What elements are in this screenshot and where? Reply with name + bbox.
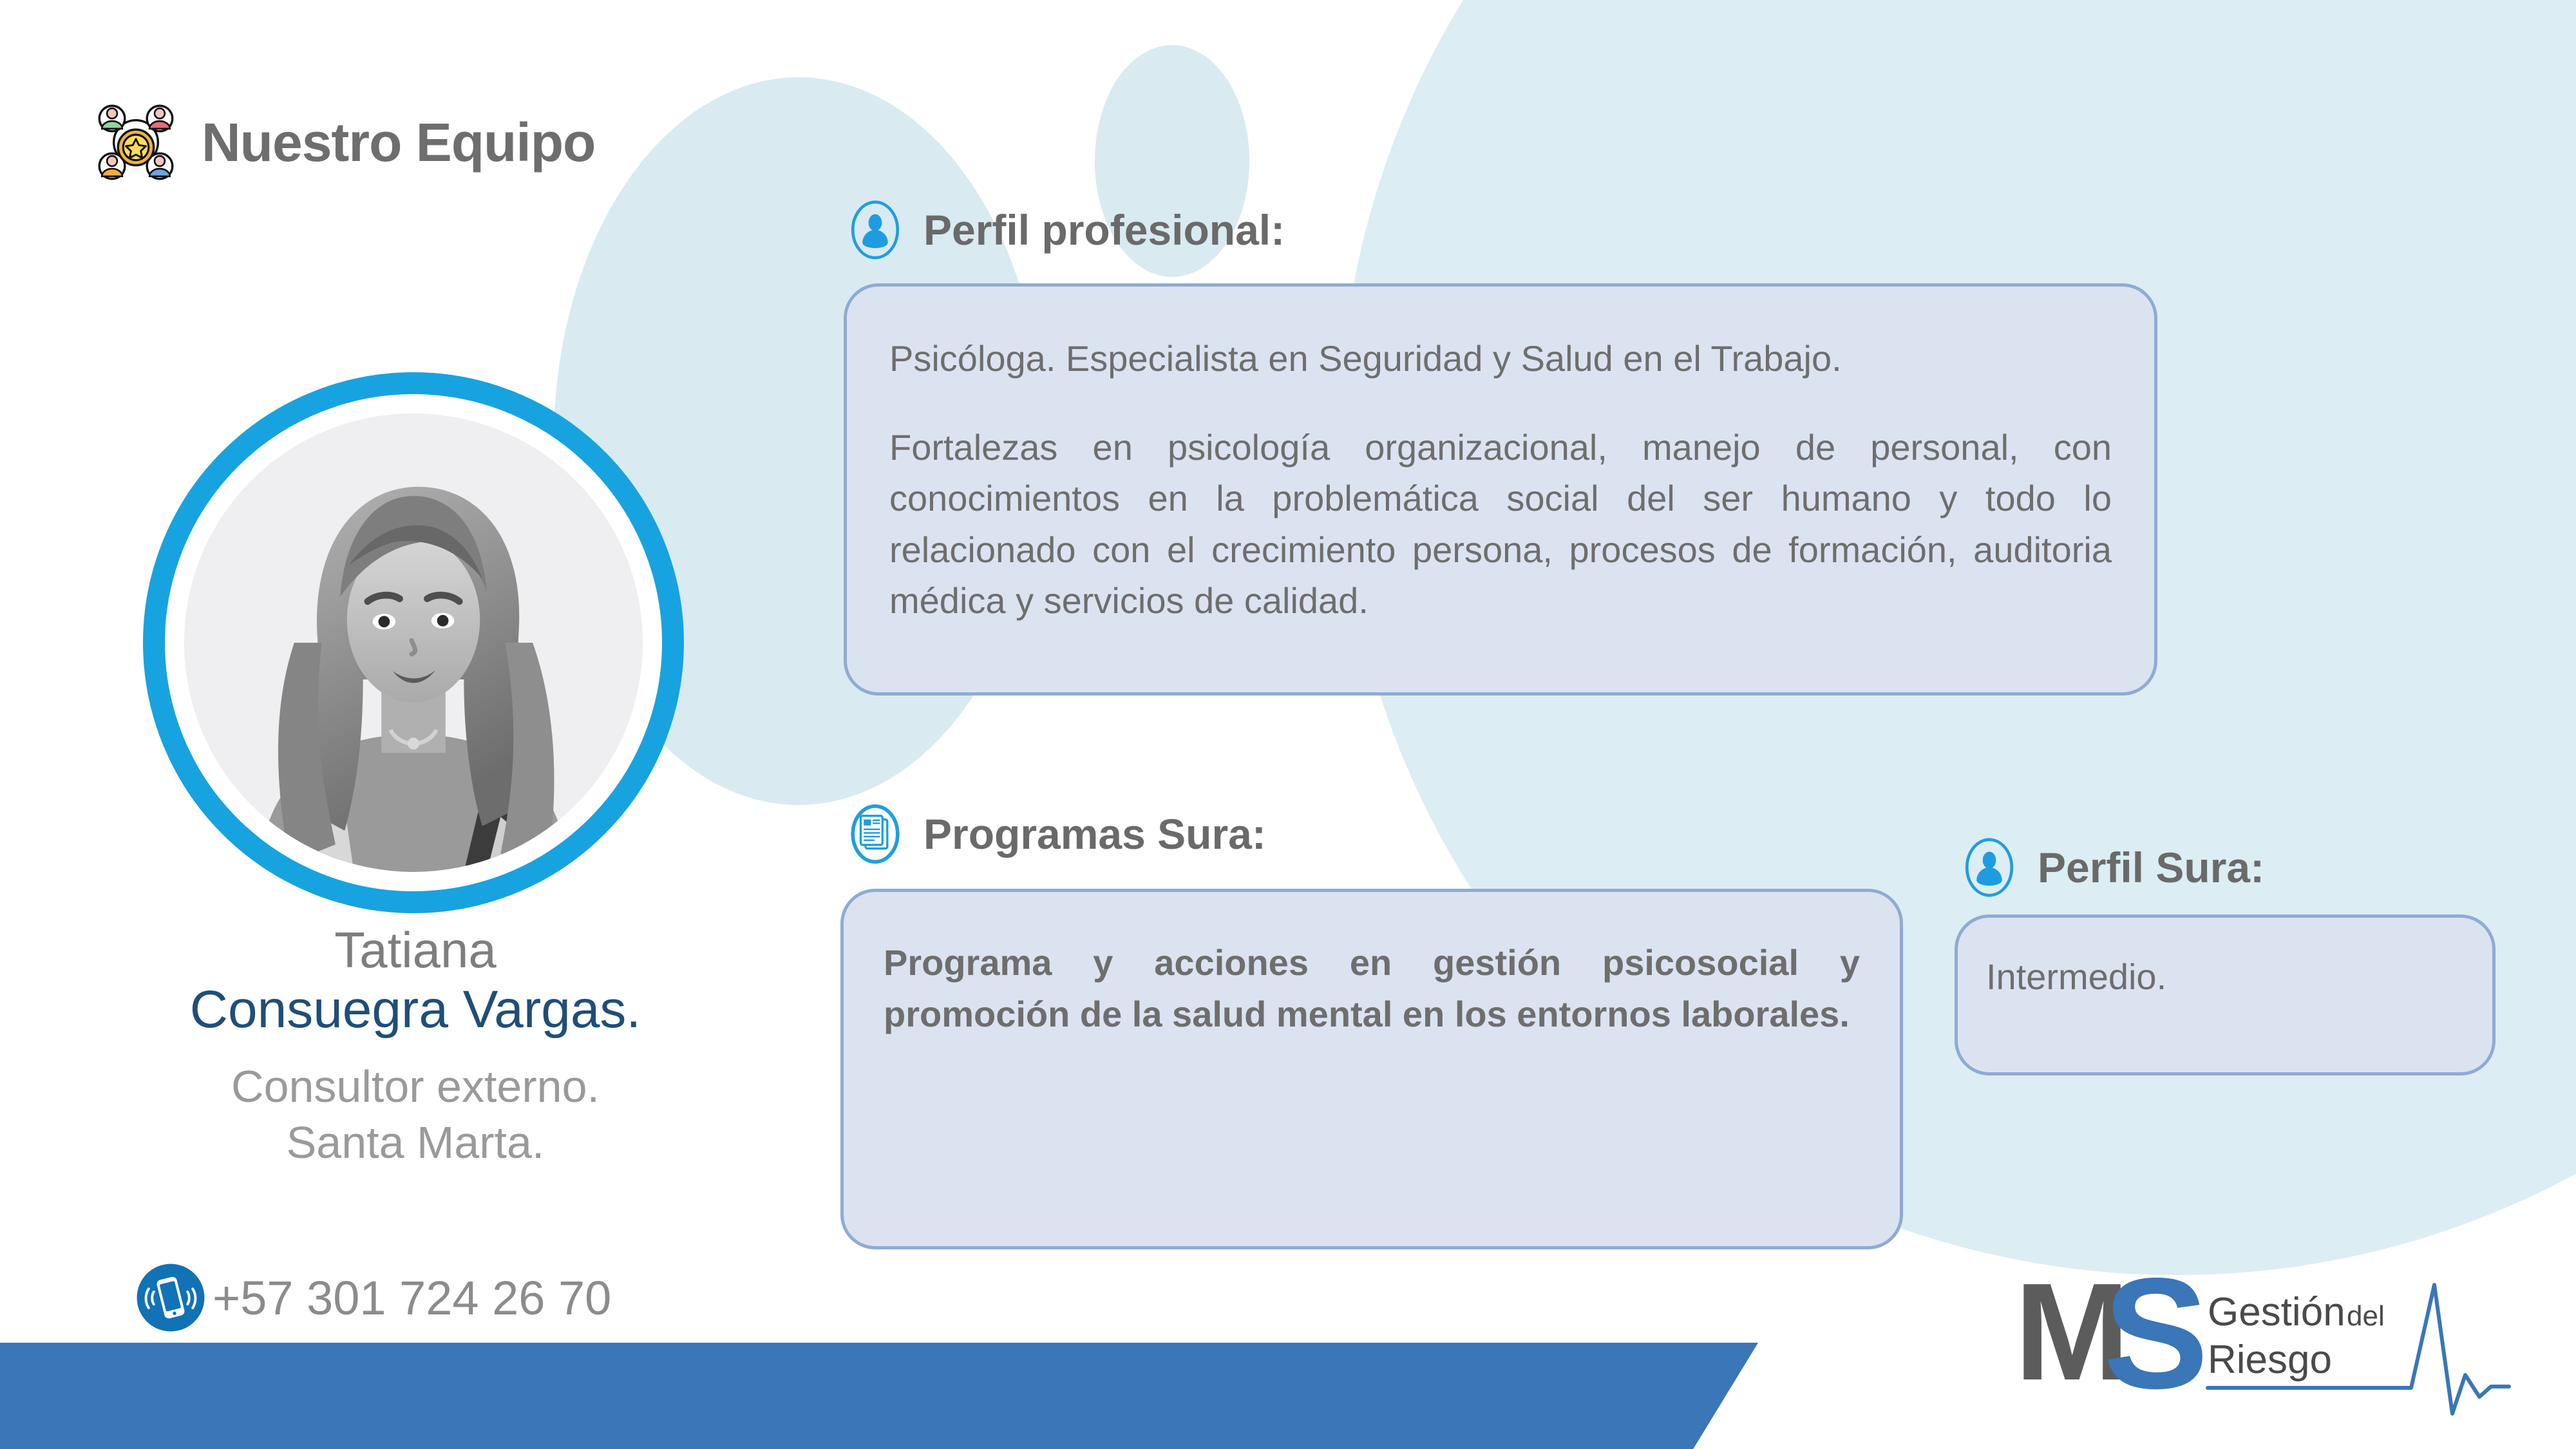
person-role: Consultor externo.	[64, 1057, 766, 1116]
mobile-vibrate-icon	[134, 1261, 207, 1334]
person-last-name: Consuegra Vargas.	[64, 979, 766, 1040]
team-group-medal-icon	[93, 100, 178, 185]
section-heading-perfil-sura: Perfil Sura:	[1959, 837, 2264, 898]
avatar	[143, 372, 684, 913]
paragraph-spacer	[889, 384, 2112, 422]
section-title: Perfil Sura:	[2038, 843, 2264, 892]
person-city: Santa Marta.	[64, 1116, 766, 1170]
person-circle-icon	[1959, 837, 2020, 898]
slide-canvas: Nuestro Equipo	[0, 0, 2576, 1449]
avatar-photo	[184, 413, 643, 872]
logo-line1-sub: del	[2347, 1300, 2385, 1332]
logo-line2: Riesgo	[2208, 1338, 2332, 1382]
section-title: Perfil profesional:	[923, 205, 1285, 254]
section-title: Programas Sura:	[923, 810, 1266, 858]
perfil-paragraph-1: Psicóloga. Especialista en Seguridad y S…	[889, 333, 2112, 384]
perfil-paragraph-2: Fortalezas en psicología organizacional,…	[889, 422, 2112, 627]
logo-line1-main: Gestión	[2208, 1290, 2345, 1334]
person-first-name: Tatiana	[64, 921, 766, 979]
page-title: Nuestro Equipo	[202, 111, 595, 174]
section-heading-programas-sura: Programas Sura:	[845, 804, 1266, 864]
company-logo: M S Gestión del Riesgo	[2014, 1256, 2523, 1417]
document-list-circle-icon	[845, 804, 905, 864]
logo-mark-s: S	[2103, 1256, 2208, 1417]
person-circle-icon	[845, 200, 905, 260]
card-programas-sura: Programa y acciones en gestión psicosoci…	[840, 889, 1903, 1249]
programas-paragraph: Programa y acciones en gestión psicosoci…	[884, 937, 1860, 1039]
section-heading-perfil-profesional: Perfil profesional:	[845, 200, 1285, 260]
phone-contact[interactable]: +57 301 724 26 70	[134, 1261, 611, 1334]
card-perfil-sura: Intermedio.	[1955, 914, 2495, 1075]
page-header: Nuestro Equipo	[93, 100, 595, 185]
phone-number: +57 301 724 26 70	[213, 1271, 611, 1325]
person-details: Tatiana Consuegra Vargas. Consultor exte…	[64, 921, 766, 1169]
card-perfil-profesional: Psicóloga. Especialista en Seguridad y S…	[844, 283, 2157, 696]
perfil-sura-value: Intermedio.	[1986, 951, 2464, 1003]
